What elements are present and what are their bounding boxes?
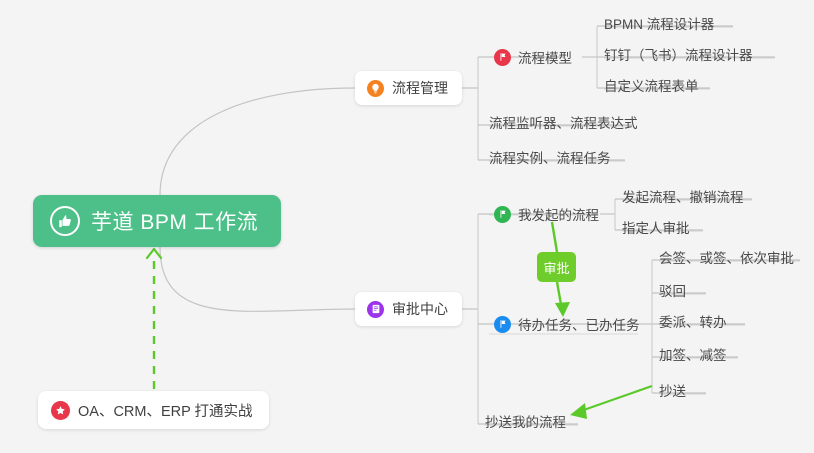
note-label: OA、CRM、ERP 打通实战 xyxy=(78,400,253,421)
document-icon xyxy=(367,301,384,318)
leaf-add-remove-sign[interactable]: 加签、减签 xyxy=(659,344,727,369)
branch-node-process-management[interactable]: 流程管理 xyxy=(355,71,462,105)
branch-label: 流程管理 xyxy=(392,78,448,98)
leaf-bpmn-designer[interactable]: BPMN 流程设计器 xyxy=(604,13,714,38)
root-label: 芋道 BPM 工作流 xyxy=(91,206,258,236)
flag-green-icon xyxy=(494,206,511,223)
flag-blue-icon xyxy=(494,316,511,333)
node-my-initiated-processes[interactable]: 我发起的流程 xyxy=(494,204,599,228)
root-node[interactable]: 芋道 BPM 工作流 xyxy=(33,195,281,247)
node-label: 待办任务、已办任务 xyxy=(518,314,640,334)
flag-red-icon xyxy=(494,49,511,66)
approval-tag[interactable]: 审批 xyxy=(537,252,576,282)
thumbs-up-icon xyxy=(50,206,80,236)
leaf-process-instance[interactable]: 流程实例、流程任务 xyxy=(489,147,611,172)
star-icon xyxy=(51,401,70,420)
leaf-countersign[interactable]: 会签、或签、依次审批 xyxy=(659,247,794,272)
mindmap-canvas: 芋道 BPM 工作流 流程管理 流程模型 BPMN 流程设计器 钉钉（飞书）流程… xyxy=(0,0,814,453)
cc-flow-arrow xyxy=(570,386,652,419)
leaf-delegate-transfer[interactable]: 委派、转办 xyxy=(659,311,727,336)
node-todo-done-tasks[interactable]: 待办任务、已办任务 xyxy=(494,314,640,338)
branch-node-approval-center[interactable]: 审批中心 xyxy=(355,292,462,326)
leaf-cc[interactable]: 抄送 xyxy=(659,380,686,405)
leaf-dingtalk-designer[interactable]: 钉钉（飞书）流程设计器 xyxy=(604,44,753,69)
node-label: 我发起的流程 xyxy=(518,204,599,224)
leaf-process-listener[interactable]: 流程监听器、流程表达式 xyxy=(489,112,638,137)
leaf-custom-form[interactable]: 自定义流程表单 xyxy=(604,75,699,100)
branch-label: 审批中心 xyxy=(392,299,448,319)
lightbulb-icon xyxy=(367,80,384,97)
leaf-reject[interactable]: 驳回 xyxy=(659,280,686,305)
node-process-model[interactable]: 流程模型 xyxy=(494,47,572,71)
dashed-arrow-to-root xyxy=(147,249,161,389)
node-label: 流程模型 xyxy=(518,47,572,67)
leaf-cc-to-me[interactable]: 抄送我的流程 xyxy=(485,411,566,436)
note-node-integration[interactable]: OA、CRM、ERP 打通实战 xyxy=(38,391,269,429)
leaf-start-cancel-process[interactable]: 发起流程、撤销流程 xyxy=(622,186,744,211)
leaf-assignee-approval[interactable]: 指定人审批 xyxy=(622,217,690,242)
